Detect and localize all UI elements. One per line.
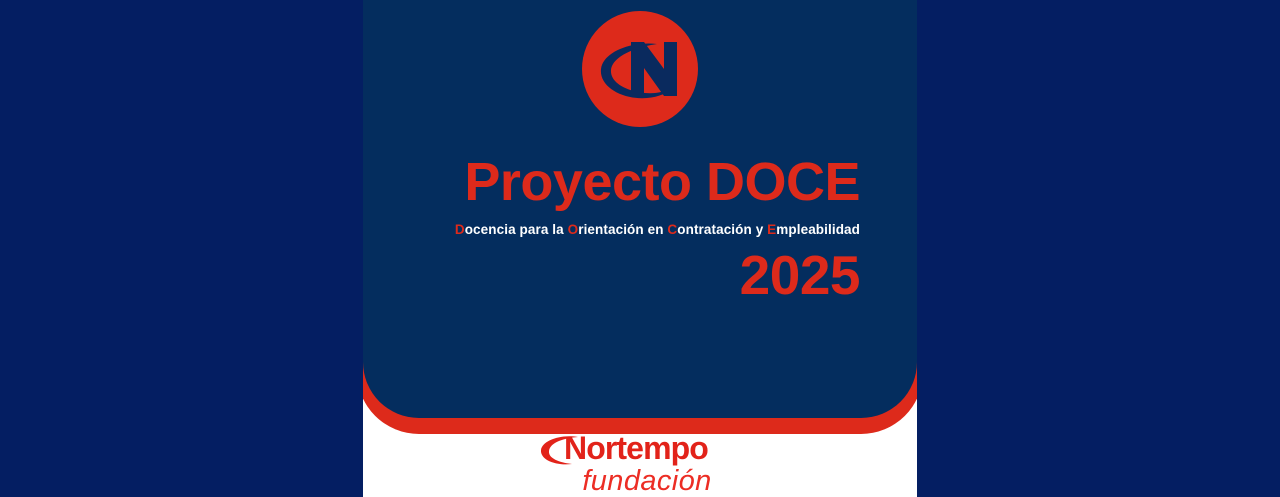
subtitle-part: mpleabilidad (776, 222, 860, 237)
brand-lockup: Nortempo fundación (363, 432, 917, 497)
poster-canvas: Proyecto DOCE Docencia para la Orientaci… (0, 0, 1280, 497)
subtitle-part: C (667, 222, 677, 237)
brand-name-row: Nortempo (363, 432, 917, 466)
project-subtitle: Docencia para la Orientación en Contrata… (418, 223, 860, 238)
poster-card: Proyecto DOCE Docencia para la Orientaci… (363, 0, 917, 497)
subtitle-part: rientación en (578, 222, 667, 237)
subtitle-part: ocencia para la (465, 222, 568, 237)
navy-content-panel: Proyecto DOCE Docencia para la Orientaci… (363, 0, 917, 418)
nortempo-circle-logo-icon (579, 8, 701, 130)
brand-name: Nortempo (564, 431, 708, 465)
project-title: Proyecto DOCE (418, 155, 860, 209)
panel-content: Proyecto DOCE Docencia para la Orientaci… (363, 0, 917, 418)
headline-block: Proyecto DOCE Docencia para la Orientaci… (418, 155, 860, 303)
brand-tagline: fundación (363, 465, 917, 497)
subtitle-part: D (455, 222, 465, 237)
subtitle-part: E (767, 222, 776, 237)
project-year: 2025 (418, 248, 860, 303)
subtitle-part: O (568, 222, 579, 237)
subtitle-part: ontratación y (677, 222, 767, 237)
